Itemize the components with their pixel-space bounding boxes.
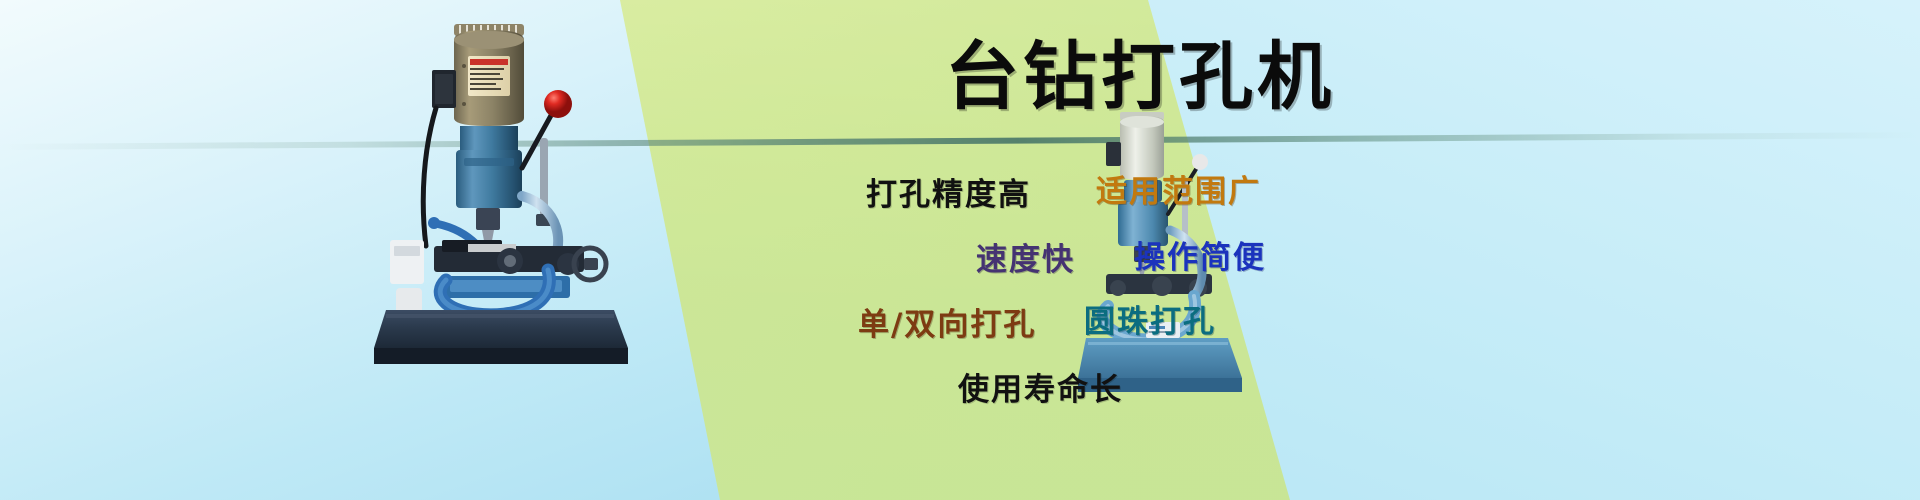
- feature-label-bead-drilling: 圆珠打孔: [1084, 307, 1216, 338]
- product-photo-primary: [372, 18, 644, 366]
- promo-banner: 台钻打孔机 打孔精度高 适用范围广 速度快 操作简便 单/双向打孔 圆珠打孔 使…: [0, 0, 1920, 500]
- page-title: 台钻打孔机: [945, 40, 1335, 114]
- feature-label-easy-operation: 操作简便: [1134, 243, 1266, 274]
- feature-label-wide-application: 适用范围广: [1096, 177, 1261, 208]
- feature-label-drilling-precision: 打孔精度高: [866, 180, 1031, 211]
- feature-label-single-dual-drill: 单/双向打孔: [858, 310, 1036, 341]
- feature-label-fast-speed: 速度快: [976, 245, 1075, 276]
- feature-label-long-lifespan: 使用寿命长: [958, 375, 1123, 406]
- bench-drill-illustration-primary: [372, 18, 644, 366]
